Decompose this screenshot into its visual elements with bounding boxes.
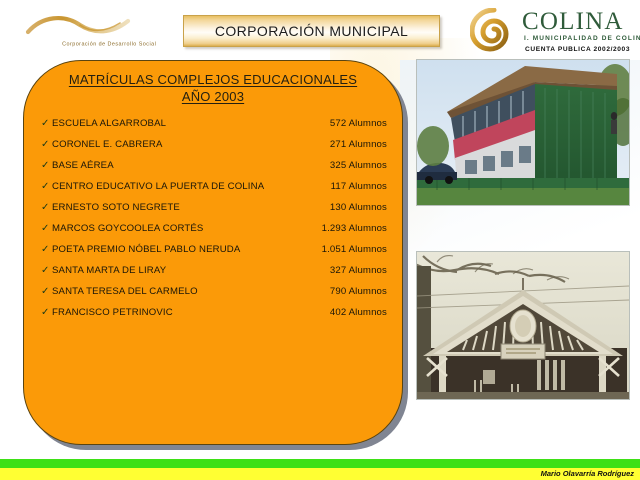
panel-title-line-2: AÑO 2003 xyxy=(182,88,244,105)
enrollment-list: ✓ESCUELA ALGARROBAL572 Alumnos✓CORONEL E… xyxy=(41,118,387,328)
colina-spiral-icon xyxy=(470,8,518,52)
slide-header: Corporación de Desarrollo Social CORPORA… xyxy=(0,0,640,58)
photo-school-modern xyxy=(416,59,630,206)
student-count: 117 Alumnos xyxy=(331,181,387,192)
colina-municipality-logo: COLINA I. MUNICIPALIDAD DE COLINA CUENTA… xyxy=(456,6,632,58)
student-count: 790 Alumnos xyxy=(330,286,387,297)
corporacion-desarrollo-social-logo: Corporación de Desarrollo Social xyxy=(18,10,148,52)
enrollment-row: ✓SANTA MARTA DE LIRAY327 Alumnos xyxy=(41,265,387,286)
school-name: CENTRO EDUCATIVO LA PUERTA DE COLINA xyxy=(52,181,331,192)
check-icon: ✓ xyxy=(41,160,52,171)
student-count: 271 Alumnos xyxy=(330,139,387,150)
enrollment-row: ✓BASE AÉREA325 Alumnos xyxy=(41,160,387,181)
check-icon: ✓ xyxy=(41,244,52,255)
slide-title-text: CORPORACIÓN MUNICIPAL xyxy=(215,23,408,39)
panel-title-line-1: MATRÍCULAS COMPLEJOS EDUCACIONALES xyxy=(69,71,357,88)
school-name: FRANCISCO PETRINOVIC xyxy=(52,307,330,318)
check-icon: ✓ xyxy=(41,223,52,234)
school-name: SANTA TERESA DEL CARMELO xyxy=(52,286,330,297)
check-icon: ✓ xyxy=(41,286,52,297)
photo-school-historic-image xyxy=(417,252,629,399)
footer-author-name: Mario Olavarría Rodríguez xyxy=(541,468,634,479)
presentation-slide: Corporación de Desarrollo Social CORPORA… xyxy=(0,0,640,480)
photo-school-historic xyxy=(416,251,630,400)
student-count: 572 Alumnos xyxy=(330,118,387,129)
enrollment-row: ✓FRANCISCO PETRINOVIC402 Alumnos xyxy=(41,307,387,328)
school-name: MARCOS GOYCOOLEA CORTÉS xyxy=(52,223,322,234)
enrollment-row: ✓CENTRO EDUCATIVO LA PUERTA DE COLINA117… xyxy=(41,181,387,202)
check-icon: ✓ xyxy=(41,181,52,192)
enrollment-row: ✓ESCUELA ALGARROBAL572 Alumnos xyxy=(41,118,387,139)
school-name: ERNESTO SOTO NEGRETE xyxy=(52,202,330,213)
check-icon: ✓ xyxy=(41,118,52,129)
school-name: ESCUELA ALGARROBAL xyxy=(52,118,330,129)
enrollment-row: ✓SANTA TERESA DEL CARMELO790 Alumnos xyxy=(41,286,387,307)
student-count: 1.051 Alumnos xyxy=(322,244,387,255)
panel-title: MATRÍCULAS COMPLEJOS EDUCACIONALES AÑO 2… xyxy=(24,71,402,105)
colina-subtitle: I. MUNICIPALIDAD DE COLINA xyxy=(524,35,640,43)
student-count: 325 Alumnos xyxy=(330,160,387,171)
school-name: POETA PREMIO NÓBEL PABLO NERUDA xyxy=(52,244,322,255)
check-icon: ✓ xyxy=(41,307,52,318)
school-name: BASE AÉREA xyxy=(52,160,330,171)
school-name: CORONEL E. CABRERA xyxy=(52,139,330,150)
check-icon: ✓ xyxy=(41,202,52,213)
school-name: SANTA MARTA DE LIRAY xyxy=(52,265,330,276)
enrollment-panel: MATRÍCULAS COMPLEJOS EDUCACIONALES AÑO 2… xyxy=(23,60,403,445)
check-icon: ✓ xyxy=(41,265,52,276)
corporacion-logo-caption: Corporación de Desarrollo Social xyxy=(30,40,188,47)
enrollment-row: ✓ERNESTO SOTO NEGRETE130 Alumnos xyxy=(41,202,387,223)
slide-title-banner: CORPORACIÓN MUNICIPAL xyxy=(183,15,440,47)
cuenta-publica-label: CUENTA PUBLICA 2002/2003 xyxy=(525,46,630,53)
check-icon: ✓ xyxy=(41,139,52,150)
colina-wordmark: COLINA xyxy=(522,9,624,34)
photo-school-modern-image xyxy=(417,60,629,205)
enrollment-row: ✓MARCOS GOYCOOLEA CORTÉS1.293 Alumnos xyxy=(41,223,387,244)
student-count: 327 Alumnos xyxy=(330,265,387,276)
enrollment-row: ✓CORONEL E. CABRERA271 Alumnos xyxy=(41,139,387,160)
enrollment-row: ✓POETA PREMIO NÓBEL PABLO NERUDA1.051 Al… xyxy=(41,244,387,265)
student-count: 402 Alumnos xyxy=(330,307,387,318)
student-count: 130 Alumnos xyxy=(330,202,387,213)
swoosh-icon xyxy=(24,12,142,42)
footer-stripe-green xyxy=(0,459,640,468)
student-count: 1.293 Alumnos xyxy=(322,223,387,234)
